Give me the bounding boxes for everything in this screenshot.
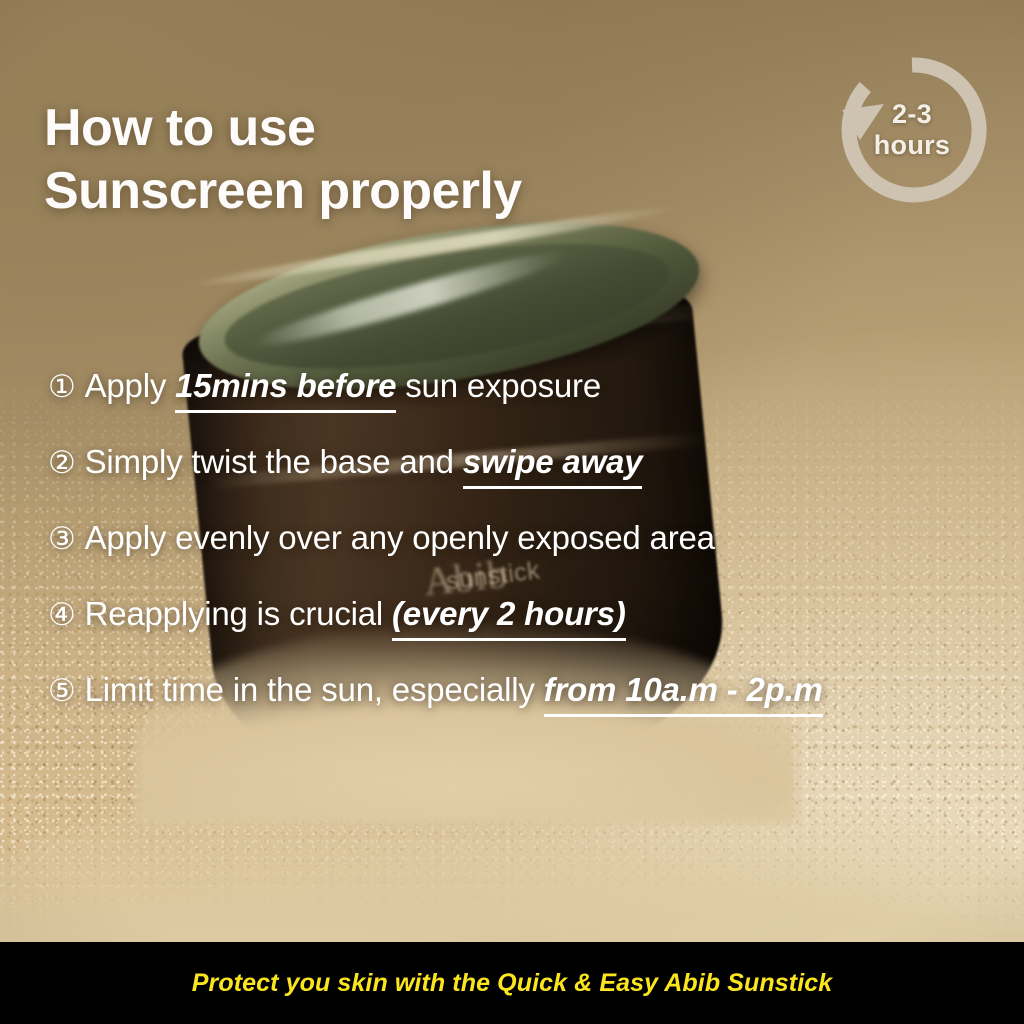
footer-banner: Protect you skin with the Quick & Easy A… bbox=[0, 942, 1024, 1024]
infographic-poster: Abib sunstick Broad Spectrum SPF How to … bbox=[0, 0, 1024, 1024]
reapply-time-badge: 2-3 hours bbox=[834, 52, 990, 208]
step-emphasis: (every 2 hours) bbox=[392, 595, 626, 641]
step-text-pre: Apply bbox=[85, 367, 176, 404]
list-item: ③Apply evenly over any openly exposed ar… bbox=[48, 518, 988, 558]
step-marker: ④ bbox=[48, 595, 76, 634]
page-title: How to use Sunscreen properly bbox=[44, 97, 684, 223]
badge-line-1: 2-3 bbox=[892, 99, 932, 130]
step-marker: ③ bbox=[48, 519, 76, 558]
instruction-list: ①Apply 15mins before sun exposure ②Simpl… bbox=[48, 366, 988, 710]
step-emphasis: from 10a.m - 2p.m bbox=[544, 671, 823, 717]
step-text-pre: Simply twist the base and bbox=[85, 443, 463, 480]
badge-label-group: 2-3 hours bbox=[834, 52, 990, 208]
step-text-pre: Apply evenly over any openly exposed are… bbox=[85, 519, 715, 556]
step-text-pre: Reapplying is crucial bbox=[85, 595, 392, 632]
list-item: ⑤Limit time in the sun, especially from … bbox=[48, 670, 988, 710]
step-emphasis: 15mins before bbox=[175, 367, 396, 413]
step-marker: ⑤ bbox=[48, 671, 76, 710]
list-item: ④Reapplying is crucial (every 2 hours) bbox=[48, 594, 988, 634]
page-title-line-2: Sunscreen properly bbox=[44, 160, 684, 223]
page-title-line-1: How to use bbox=[44, 97, 684, 160]
step-text-pre: Limit time in the sun, especially bbox=[85, 671, 544, 708]
list-item: ①Apply 15mins before sun exposure bbox=[48, 366, 988, 406]
step-marker: ① bbox=[48, 367, 76, 406]
step-text-post: sun exposure bbox=[396, 367, 601, 404]
footer-tagline: Protect you skin with the Quick & Easy A… bbox=[192, 969, 833, 998]
step-emphasis: swipe away bbox=[463, 443, 643, 489]
list-item: ②Simply twist the base and swipe away bbox=[48, 442, 988, 482]
step-marker: ② bbox=[48, 443, 76, 482]
badge-line-2: hours bbox=[874, 130, 951, 161]
